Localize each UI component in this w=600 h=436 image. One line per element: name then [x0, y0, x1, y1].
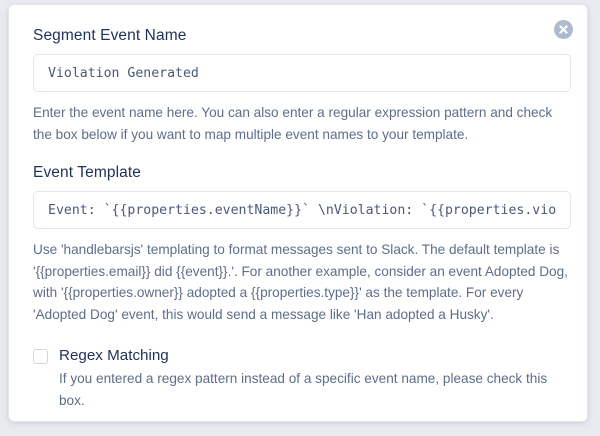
event-template-helper: Use 'handlebarsjs' templating to format … [33, 239, 569, 325]
modal-content: Segment Event Name Enter the event name … [33, 27, 569, 411]
regex-matching-helper: If you entered a regex pattern instead o… [59, 368, 559, 411]
regex-matching-texts: Regex Matching If you entered a regex pa… [59, 346, 569, 411]
segment-event-name-helper: Enter the event name here. You can also … [33, 102, 569, 145]
segment-event-modal: Segment Event Name Enter the event name … [8, 4, 588, 422]
regex-matching-row: Regex Matching If you entered a regex pa… [33, 346, 569, 411]
regex-matching-checkbox[interactable] [33, 349, 48, 364]
segment-event-name-input[interactable] [33, 54, 571, 92]
regex-matching-label[interactable]: Regex Matching [59, 346, 569, 366]
event-template-label: Event Template [33, 164, 569, 182]
section-spacer [33, 145, 569, 164]
event-template-input[interactable] [33, 191, 571, 229]
segment-event-name-label: Segment Event Name [33, 27, 569, 45]
